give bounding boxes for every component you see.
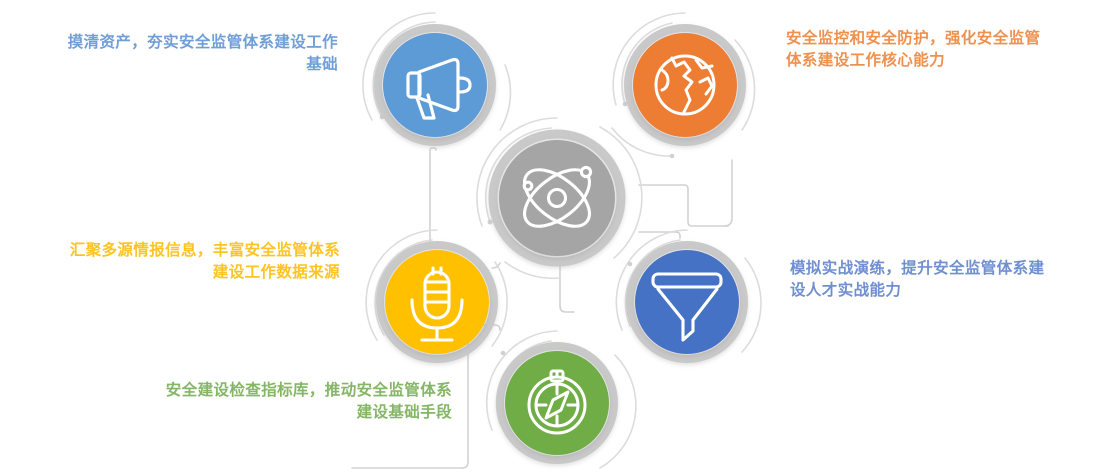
node-globe[interactable] bbox=[628, 28, 742, 142]
label-microphone: 汇聚多源情报信息，丰富安全监管体系 建设工作数据来源 bbox=[8, 240, 340, 285]
arc-dot-globe-2 bbox=[670, 154, 675, 159]
infographic-canvas: 摸清资产，夯实安全监管体系建设工作 基础 安全监控和安全防护，强化安全监管 体系… bbox=[0, 0, 1102, 476]
compass-disc bbox=[505, 351, 609, 455]
label-compass: 安全建设检查指标库，推动安全监管体系 建设基础手段 bbox=[100, 380, 452, 425]
arc-megaphone-right bbox=[500, 65, 510, 130]
center-disc bbox=[499, 140, 615, 256]
center-node[interactable] bbox=[493, 134, 621, 262]
connector-right-stub bbox=[724, 160, 732, 226]
arc-dot-funnel bbox=[628, 262, 633, 267]
label-globe: 安全监控和安全防护，强化安全监管 体系建设工作核心能力 bbox=[786, 28, 1092, 73]
globe-disc bbox=[633, 33, 737, 137]
node-megaphone[interactable] bbox=[378, 28, 492, 142]
label-megaphone: 摸清资产，夯实安全监管体系建设工作 基础 bbox=[8, 32, 338, 77]
node-microphone[interactable] bbox=[380, 245, 494, 359]
node-funnel[interactable] bbox=[630, 245, 744, 359]
arc-globe-bottom bbox=[612, 128, 672, 156]
arc-dot-center bbox=[488, 220, 493, 225]
node-compass[interactable] bbox=[500, 346, 614, 460]
label-funnel: 模拟实战演练，提升安全监管体系建 设人才实战能力 bbox=[790, 258, 1090, 303]
connector-right-lower bbox=[639, 232, 680, 238]
arc-dot-compass bbox=[501, 351, 506, 356]
connector-right-upper bbox=[639, 185, 728, 226]
